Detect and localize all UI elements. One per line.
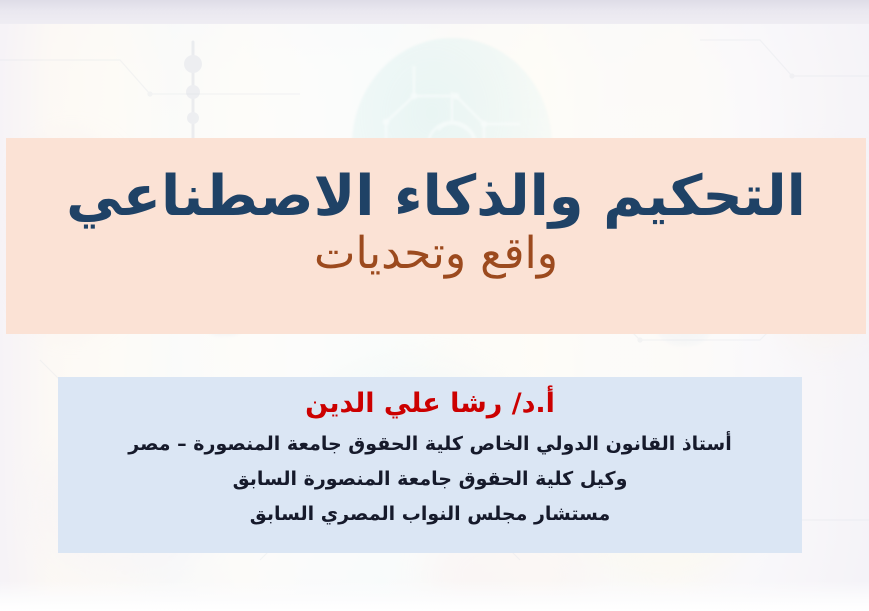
speaker-credential-line: أستاذ القانون الدولي الخاص كلية الحقوق ج… [128, 427, 731, 462]
speaker-credential-line: مستشار مجلس النواب المصري السابق [250, 497, 610, 532]
page-title: التحكيم والذكاء الاصطناعي [66, 168, 806, 225]
title-band: التحكيم والذكاء الاصطناعي واقع وتحديات [6, 138, 866, 334]
background-bottom-fade [0, 581, 869, 611]
speaker-info-box: أ.د/ رشا علي الدين أستاذ القانون الدولي … [58, 377, 802, 553]
page-subtitle: واقع وتحديات [314, 229, 558, 280]
background-top-strip [0, 0, 869, 24]
presentation-slide: التحكيم والذكاء الاصطناعي واقع وتحديات أ… [0, 0, 869, 611]
speaker-credential-line: وكيل كلية الحقوق جامعة المنصورة السابق [233, 462, 628, 497]
speaker-name: أ.د/ رشا علي الدين [305, 387, 555, 421]
